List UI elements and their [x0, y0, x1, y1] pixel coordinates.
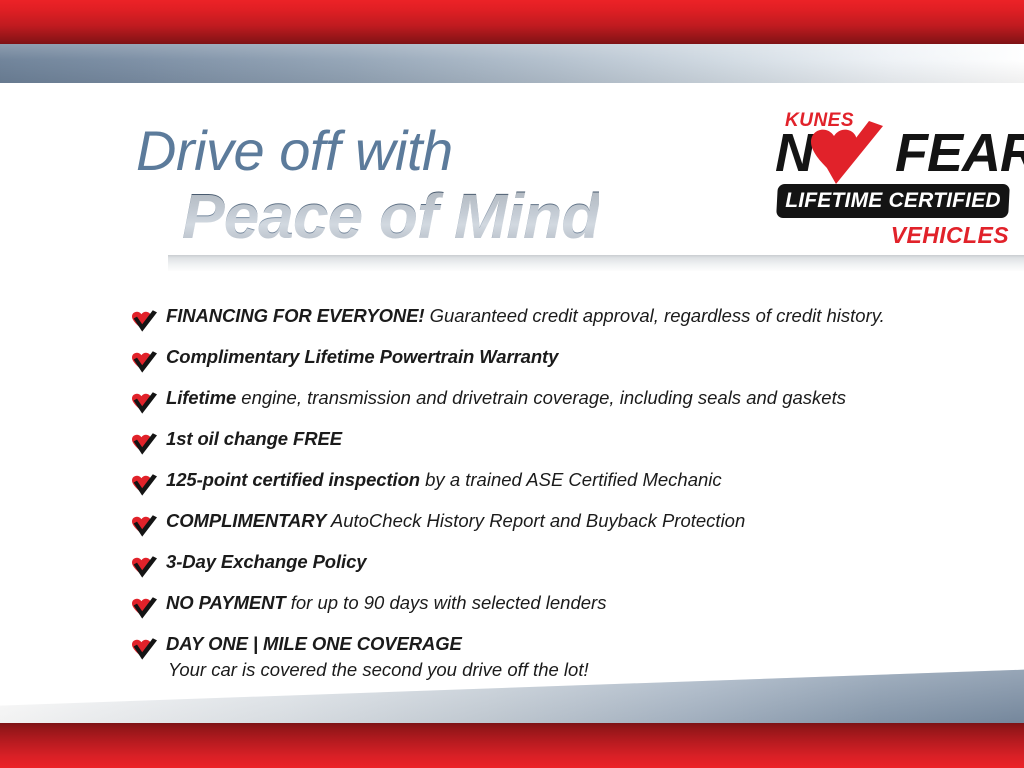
logo-wordmark-suffix: FEAR: [895, 123, 1024, 183]
list-item-rest: for up to 90 days with selected lenders: [286, 592, 607, 613]
list-item-strong: 125-point certified inspection: [166, 469, 420, 490]
list-item-text: 3-Day Exchange Policy: [166, 551, 970, 574]
list-item-text: Lifetime engine, transmission and drivet…: [166, 387, 970, 410]
list-item-text: Complimentary Lifetime Powertrain Warran…: [166, 346, 970, 369]
logo-certified-bar: LIFETIME CERTIFIED: [776, 184, 1010, 218]
list-item-text: 125-point certified inspection by a trai…: [166, 469, 970, 492]
header-divider: [168, 255, 1024, 271]
kunes-no-fear-logo: KUNES NOOFEAR LIFETIME CERTIFIED VEHICLE…: [775, 110, 1013, 250]
top-gray-band: [0, 44, 1024, 83]
list-item: 125-point certified inspection by a trai…: [130, 469, 970, 501]
list-item: FINANCING FOR EVERYONE! Guaranteed credi…: [130, 305, 970, 337]
heart-check-bullet-icon: [130, 514, 158, 538]
heart-check-bullet-icon: [130, 596, 158, 620]
headline-line-2: Peace of Mind: [182, 183, 599, 250]
list-item-text: DAY ONE | MILE ONE COVERAGE: [166, 633, 970, 656]
list-item-text: COMPLIMENTARY AutoCheck History Report a…: [166, 510, 970, 533]
heart-check-bullet-icon: [130, 637, 158, 661]
list-item: Complimentary Lifetime Powertrain Warran…: [130, 346, 970, 378]
heart-check-bullet-icon: [130, 555, 158, 579]
top-red-band: [0, 0, 1024, 44]
list-item-strong: Lifetime: [166, 387, 236, 408]
list-item-rest: by a trained ASE Certified Mechanic: [420, 469, 722, 490]
headline: Drive off with Peace of Mind: [136, 123, 599, 250]
list-item-strong: Complimentary Lifetime Powertrain Warran…: [166, 346, 558, 367]
list-item-strong: NO PAYMENT: [166, 592, 286, 613]
list-item-rest: Guaranteed credit approval, regardless o…: [424, 305, 884, 326]
bottom-red-band: [0, 723, 1024, 768]
list-item: DAY ONE | MILE ONE COVERAGE Your car is …: [130, 633, 970, 682]
list-item: Lifetime engine, transmission and drivet…: [130, 387, 970, 419]
heart-check-icon: [803, 120, 889, 194]
list-item-rest: engine, transmission and drivetrain cove…: [236, 387, 846, 408]
list-item-strong: FINANCING FOR EVERYONE!: [166, 305, 424, 326]
list-item-text: NO PAYMENT for up to 90 days with select…: [166, 592, 970, 615]
logo-vehicles-text: VEHICLES: [891, 222, 1009, 249]
heart-check-bullet-icon: [130, 350, 158, 374]
promo-banner: Drive off with Peace of Mind KUNES NOOFE…: [0, 0, 1024, 768]
benefits-list: FINANCING FOR EVERYONE! Guaranteed credi…: [130, 305, 970, 682]
list-item-rest: AutoCheck History Report and Buyback Pro…: [326, 510, 745, 531]
heart-check-bullet-icon: [130, 473, 158, 497]
list-item-strong: 1st oil change FREE: [166, 428, 342, 449]
list-item-strong: DAY ONE | MILE ONE COVERAGE: [166, 633, 462, 654]
logo-wordmark: NOOFEAR: [775, 126, 1013, 188]
list-item-strong: COMPLIMENTARY: [166, 510, 326, 531]
list-item-text: FINANCING FOR EVERYONE! Guaranteed credi…: [166, 305, 970, 328]
list-item-text: 1st oil change FREE: [166, 428, 970, 451]
list-item: COMPLIMENTARY AutoCheck History Report a…: [130, 510, 970, 542]
heart-check-bullet-icon: [130, 432, 158, 456]
list-item: NO PAYMENT for up to 90 days with select…: [130, 592, 970, 624]
heart-check-bullet-icon: [130, 391, 158, 415]
headline-line-1: Drive off with: [136, 123, 599, 179]
heart-check-bullet-icon: [130, 309, 158, 333]
list-item: 1st oil change FREE: [130, 428, 970, 460]
logo-certified-text: LIFETIME CERTIFIED: [777, 184, 1009, 218]
list-item: 3-Day Exchange Policy: [130, 551, 970, 583]
list-item-strong: 3-Day Exchange Policy: [166, 551, 366, 572]
